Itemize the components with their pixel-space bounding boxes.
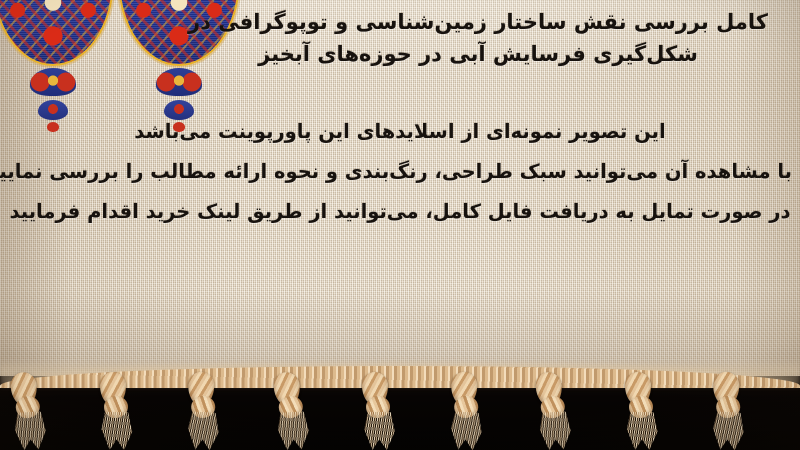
tassel-threads (362, 412, 396, 450)
tassel-threads (625, 412, 659, 450)
slide-title: کامل بررسی نقش ساختار زمین‌شناسی و توپوگ… (178, 6, 778, 70)
tassel-threads (275, 411, 311, 450)
medallion-body-icon (0, 0, 112, 64)
fringe-tassel (4, 371, 54, 450)
fringe-tassel (529, 371, 579, 450)
title-line-1: کامل بررسی نقش ساختار زمین‌شناسی و توپوگ… (178, 6, 778, 38)
tassel-threads (185, 411, 221, 450)
fringe-tassel (704, 371, 754, 450)
medallion-pendant-large (156, 68, 202, 96)
fringe-tassel (619, 372, 665, 450)
tassel-threads (100, 412, 134, 450)
slide-canvas: کامل بررسی نقش ساختار زمین‌شناسی و توپوگ… (0, 0, 800, 450)
tassel-threads (12, 411, 48, 450)
tassel-threads (537, 411, 573, 450)
tassel-threads (448, 411, 484, 450)
fringe-tassel (267, 371, 317, 450)
body-line-1: این تصویر نمونه‌ای از اسلایدهای این پاور… (8, 112, 792, 152)
tassel-threads (710, 411, 746, 450)
fringe-tassel (442, 371, 492, 450)
carpet-medallion-left (0, 0, 112, 64)
body-line-2: با مشاهده آن می‌توانید سبک طراحی، رنگ‌بن… (8, 152, 792, 192)
fringe-tassel (94, 372, 140, 450)
title-line-2: شکل‌گیری فرسایش آبی در حوزه‌های آبخیز (178, 38, 778, 70)
slide-body: این تصویر نمونه‌ای از اسلایدهای این پاور… (8, 112, 792, 232)
fringe-tassel (356, 372, 402, 450)
body-line-3: در صورت تمایل به دریافت فایل کامل، می‌تو… (8, 192, 792, 232)
medallion-pendant-large (30, 68, 76, 96)
fringe-tassel (179, 371, 229, 450)
